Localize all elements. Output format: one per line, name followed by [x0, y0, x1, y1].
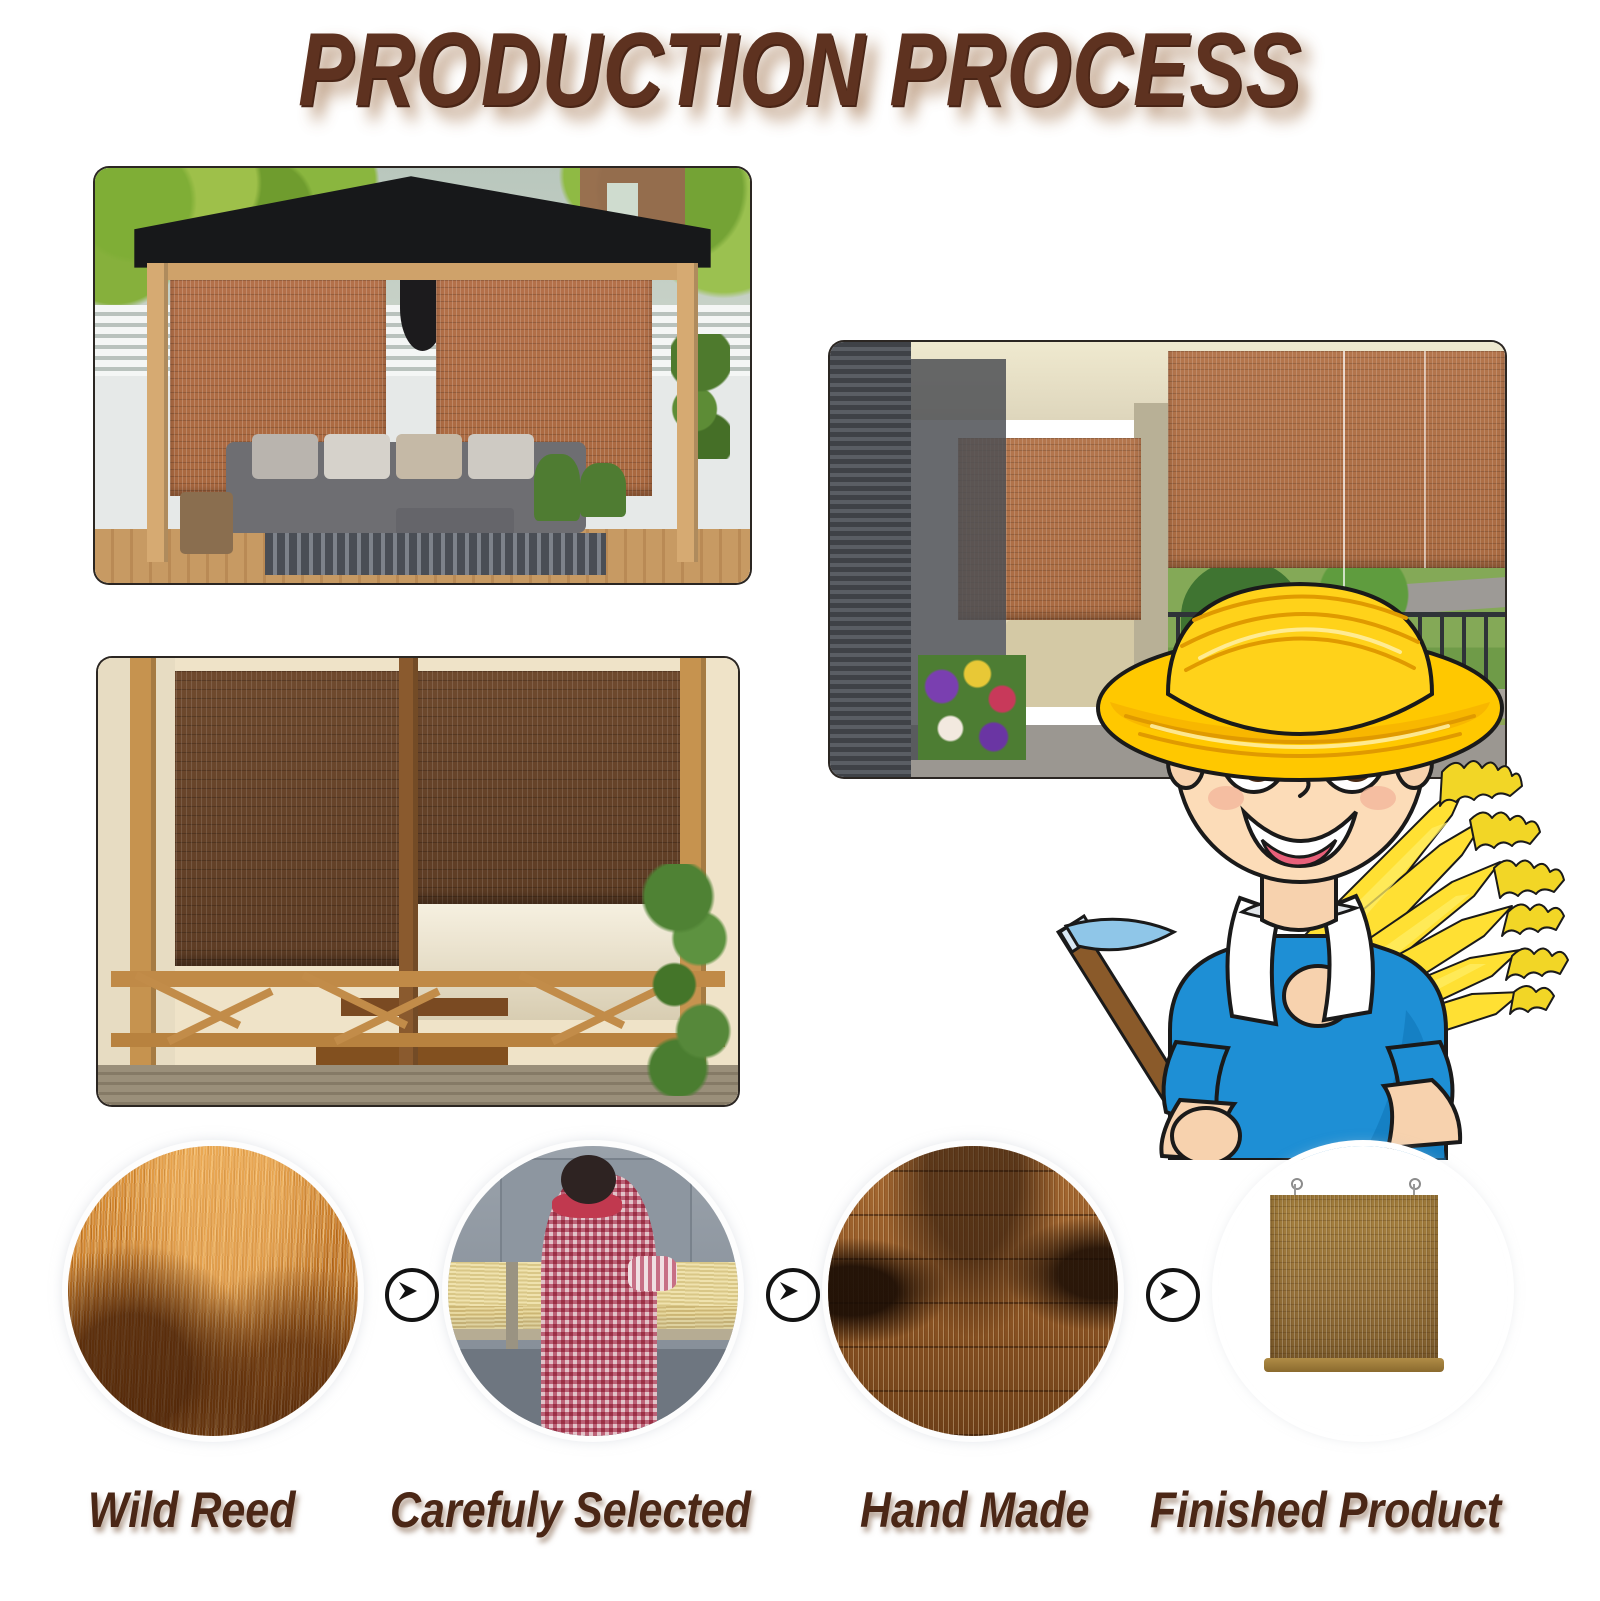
process-step-image-carefuly-selected: [448, 1146, 738, 1436]
poster-canvas: PRODUCTION PROCESS PRODUCTION PROCESS: [0, 0, 1600, 1601]
process-step-image-wild-reed: [68, 1146, 358, 1436]
process-step-label-3: Hand Made: [860, 1483, 1089, 1537]
process-step-image-hand-made: [828, 1146, 1118, 1436]
farmer-boy-mascot: [1000, 560, 1580, 1160]
photo-gazebo-with-reed-blinds: [95, 168, 750, 583]
process-step-label-1: Wild Reed: [88, 1483, 295, 1537]
straw-hat-icon: [1098, 584, 1502, 780]
bamboo-blind-panel: [156, 671, 412, 966]
process-step-label-4: Finished Product: [1150, 1483, 1501, 1537]
arrow-right-icon: [766, 1268, 820, 1322]
photo-veranda-with-bamboo-blinds: [98, 658, 738, 1105]
process-step-image-finished-product: [1218, 1146, 1508, 1436]
arrow-right-icon: [385, 1268, 439, 1322]
arrow-right-icon: [1146, 1268, 1200, 1322]
page-title-text: PRODUCTION PROCESS: [160, 14, 1440, 126]
reed-blind-panel: [1168, 351, 1506, 569]
page-title: PRODUCTION PROCESS PRODUCTION PROCESS: [0, 14, 1600, 134]
process-step-label-2: Carefuly Selected: [390, 1483, 751, 1537]
